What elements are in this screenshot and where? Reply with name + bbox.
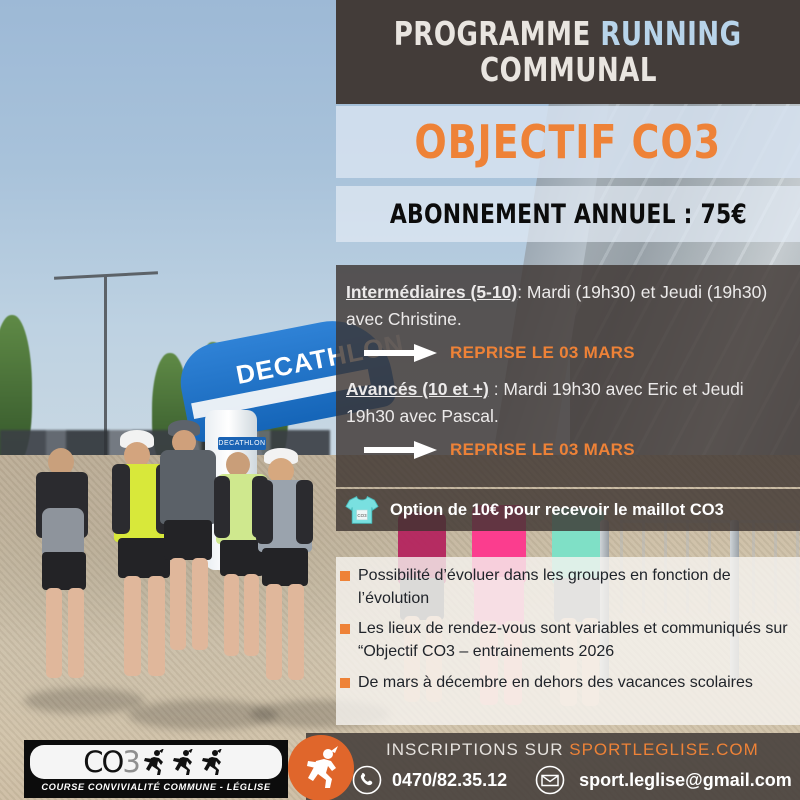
program-title-plain: PROGRAMME bbox=[394, 14, 601, 53]
runner-shorts bbox=[164, 520, 212, 560]
runner-figure bbox=[246, 448, 326, 698]
note-item: Possibilité d’évoluer dans les groupes e… bbox=[358, 565, 794, 610]
runner-torso bbox=[42, 508, 84, 556]
note-item: Les lieux de rendez-vous sont variables … bbox=[358, 618, 794, 663]
running-figures-icon bbox=[143, 749, 229, 775]
running-person-icon bbox=[298, 745, 344, 791]
arrow-right-icon bbox=[364, 440, 438, 460]
group-advanced-label: Avancés (10 et +) bbox=[346, 379, 489, 399]
contact-row: 0470/82.35.12 sport.leglise@gmail.com bbox=[352, 765, 792, 795]
runner-figure bbox=[22, 448, 108, 698]
co3-logo-mark: CO3 bbox=[30, 745, 282, 779]
co3-wordmark: CO3 bbox=[83, 748, 139, 777]
envelope-icon[interactable] bbox=[535, 765, 565, 795]
phone-number[interactable]: 0470/82.35.12 bbox=[392, 770, 507, 791]
runner-vest bbox=[214, 476, 230, 538]
objective-title: OBJECTIF CO3 bbox=[415, 115, 722, 169]
group-intermediate-label: Intermédiaires (5-10) bbox=[346, 282, 517, 302]
runner-leg bbox=[266, 584, 282, 680]
subscription-panel: ABONNEMENT ANNUEL : 75€ bbox=[336, 186, 800, 242]
reprise-row-advanced: REPRISE LE 03 MARS bbox=[364, 440, 790, 460]
runner-leg bbox=[46, 588, 62, 678]
note-item: De mars à décembre en dehors des vacance… bbox=[358, 672, 794, 695]
runner-leg bbox=[68, 588, 84, 678]
co3-logo: CO3 COURSE CONVIVIALITÉ COMMUNE - LÉGLIS… bbox=[24, 740, 288, 798]
poster-canvas: DECATHLON DECATHLON bbox=[0, 0, 800, 800]
objective-panel: OBJECTIF CO3 bbox=[336, 106, 800, 178]
notes-panel: Possibilité d’évoluer dans les groupes e… bbox=[336, 557, 800, 725]
email-address[interactable]: sport.leglise@gmail.com bbox=[579, 770, 792, 791]
group-intermediate-line: Intermédiaires (5-10): Mardi (19h30) et … bbox=[346, 279, 790, 332]
runner-leg bbox=[124, 576, 141, 676]
runner-leg bbox=[288, 584, 304, 680]
co3-wordmark-number: 3 bbox=[122, 745, 138, 779]
svg-text:CO3: CO3 bbox=[357, 513, 367, 518]
inscriptions-url[interactable]: SPORTLEGLISE.COM bbox=[569, 740, 759, 759]
tshirt-icon: CO3 bbox=[344, 494, 380, 526]
runner-shorts bbox=[262, 548, 308, 586]
co3-wordmark-letters: CO bbox=[83, 745, 122, 779]
program-title-line2: COMMUNAL bbox=[480, 52, 657, 88]
program-title-highlight: RUNNING bbox=[601, 14, 742, 53]
inscriptions-line: INSCRIPTIONS SUR SPORTLEGLISE.COM bbox=[386, 740, 786, 760]
runner-leg bbox=[224, 574, 239, 656]
arrow-right-icon bbox=[364, 343, 438, 363]
runner-vest bbox=[256, 480, 273, 544]
runner-shorts bbox=[42, 552, 86, 590]
option-text: Option de 10€ pour recevoir le maillot C… bbox=[390, 501, 724, 520]
option-panel: CO3 Option de 10€ pour recevoir le maill… bbox=[336, 489, 800, 531]
reprise-intermediate: REPRISE LE 03 MARS bbox=[450, 343, 635, 363]
subscription-price: ABONNEMENT ANNUEL : 75€ bbox=[389, 199, 746, 230]
reprise-advanced: REPRISE LE 03 MARS bbox=[450, 440, 635, 460]
header-dark-panel: PROGRAMME RUNNING COMMUNAL bbox=[336, 0, 800, 104]
runner-vest bbox=[112, 464, 130, 534]
runner-leg bbox=[170, 558, 186, 650]
group-advanced-line: Avancés (10 et +) : Mardi 19h30 avec Eri… bbox=[346, 376, 790, 429]
runner-vest bbox=[296, 480, 313, 544]
inscriptions-prefix: INSCRIPTIONS SUR bbox=[386, 740, 569, 759]
program-title-line1: PROGRAMME RUNNING bbox=[394, 16, 742, 52]
phone-icon[interactable] bbox=[352, 765, 382, 795]
groups-panel: Intermédiaires (5-10): Mardi (19h30) et … bbox=[336, 265, 800, 487]
reprise-row-intermediate: REPRISE LE 03 MARS bbox=[364, 343, 790, 363]
co3-tagline: COURSE CONVIVIALITÉ COMMUNE - LÉGLISE bbox=[30, 782, 282, 792]
running-person-badge bbox=[288, 735, 354, 800]
